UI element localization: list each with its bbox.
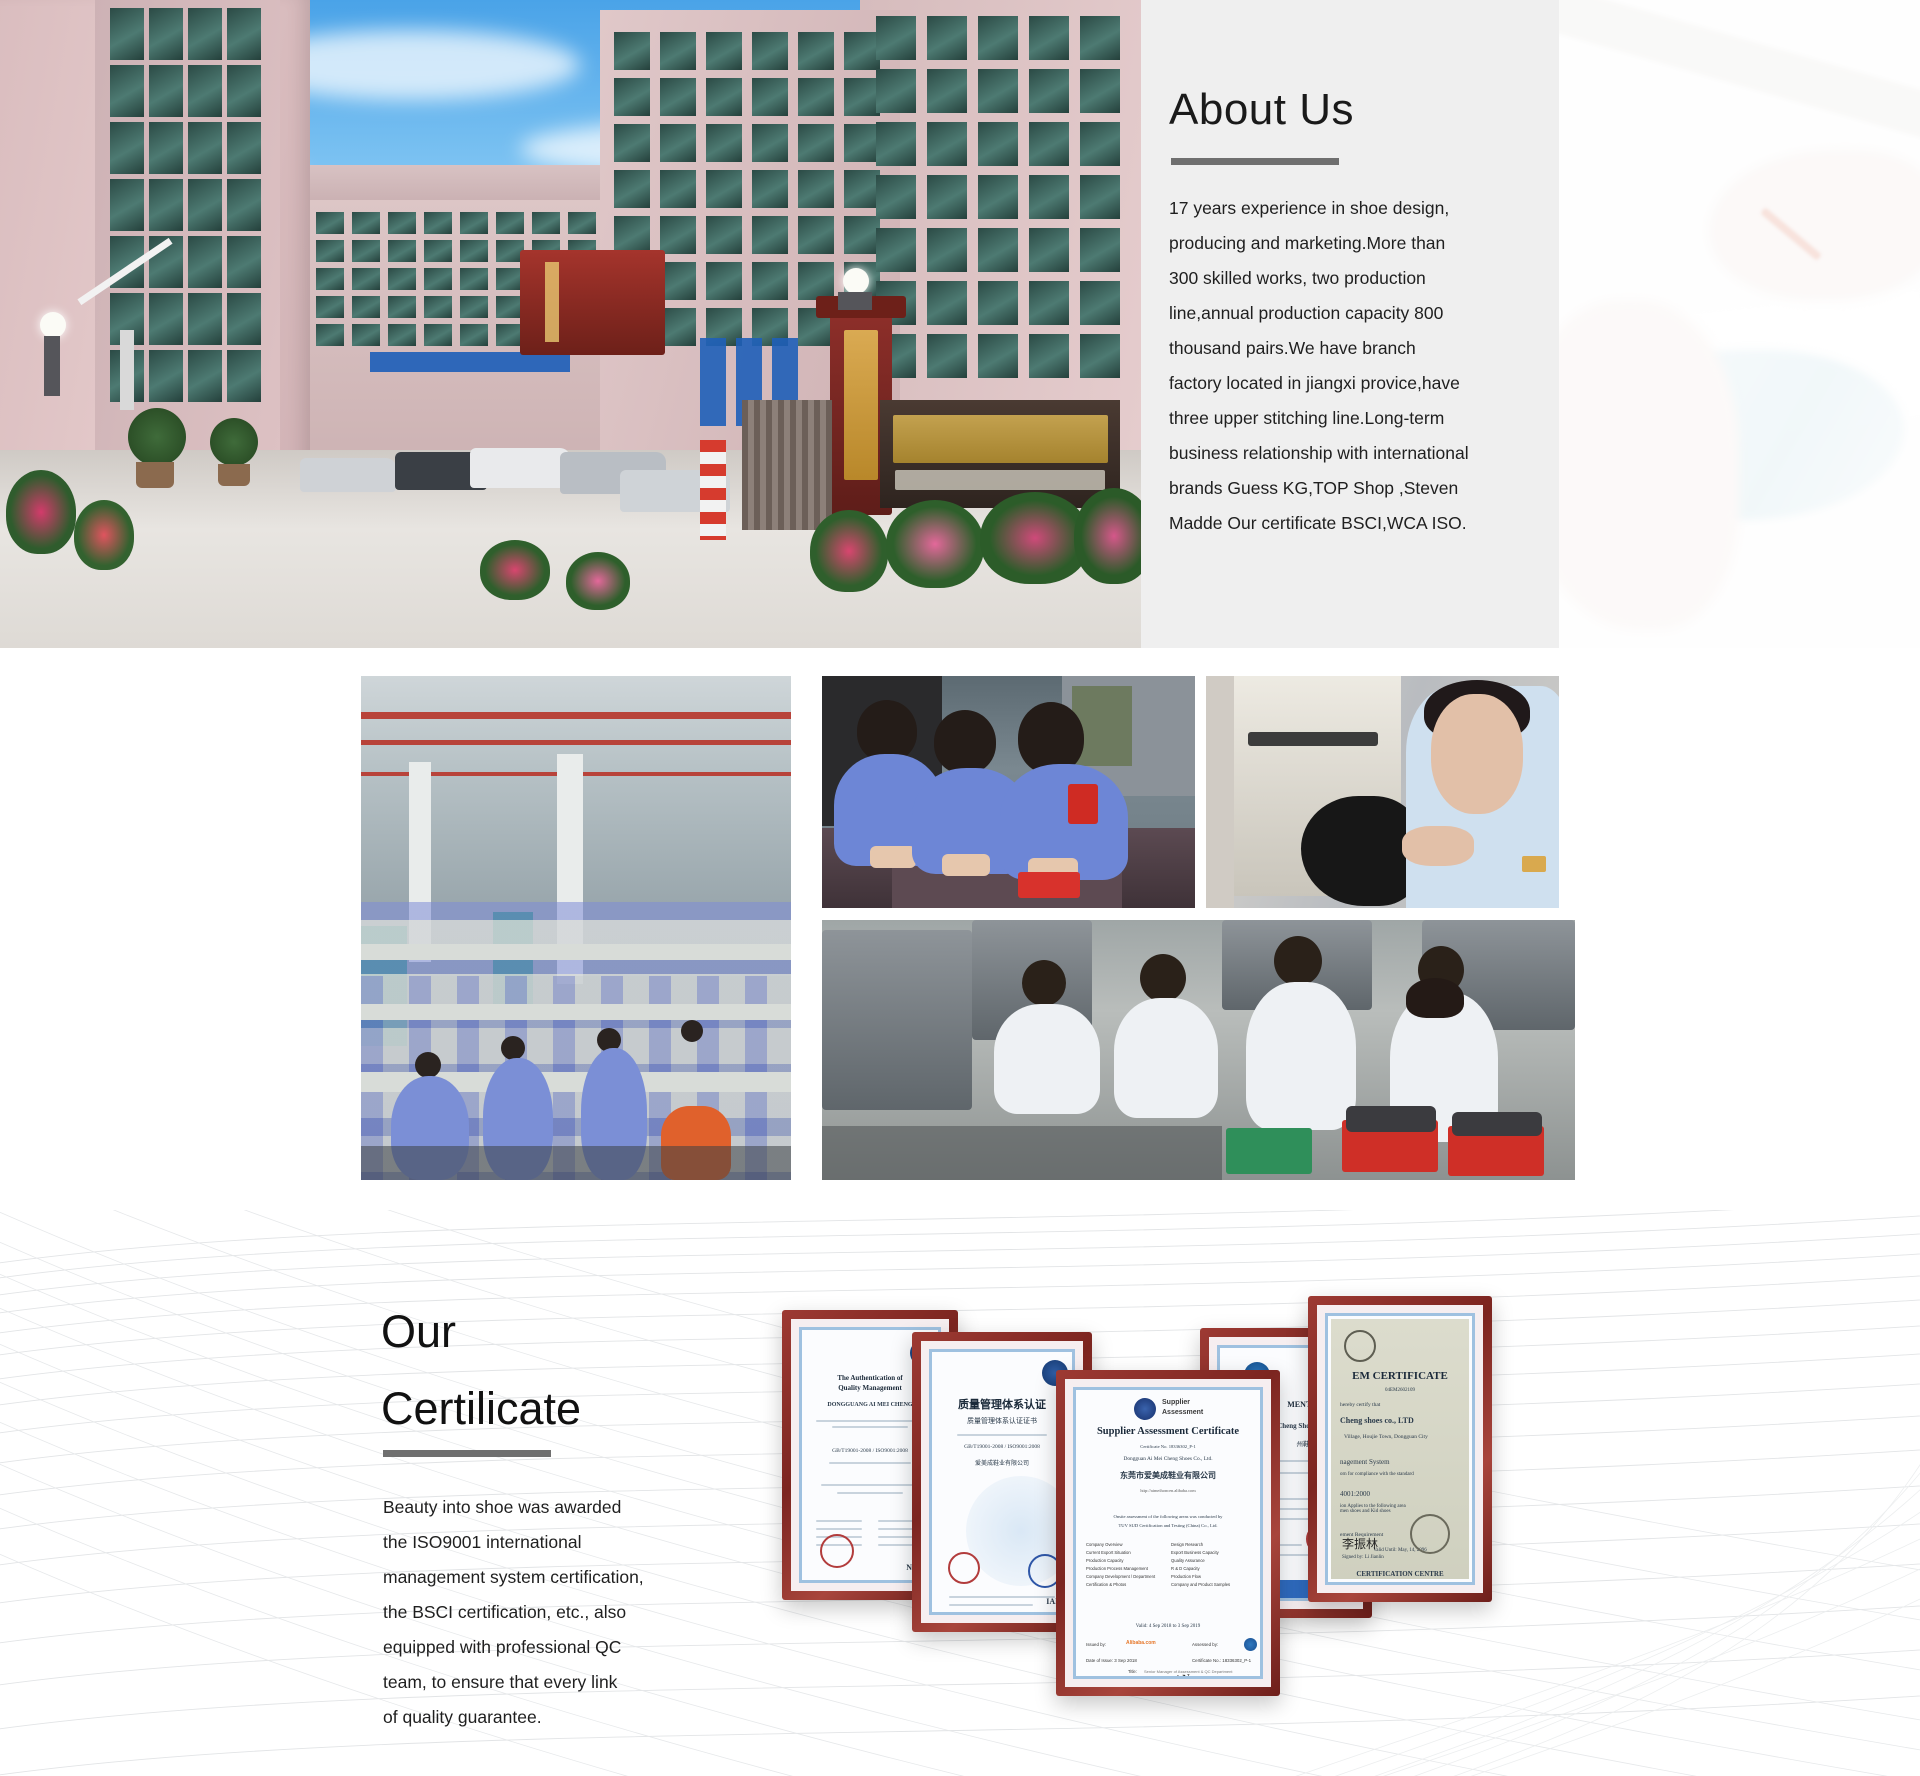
about-section: About Us 17 years experience in shoe des… [0,0,1920,648]
gallery-photo-workers-cutting [822,676,1195,908]
cert3-badge: SupplierAssessment [1162,1398,1203,1418]
factory-photo-gallery [0,648,1920,1210]
cert3-check-1: Design Research [1171,1542,1250,1547]
designer-sketching-photo [1559,0,1920,648]
cert3-check-4: Production Capacity [1086,1558,1165,1563]
cert3-assessed-by-label: Assessed by: [1192,1642,1218,1647]
cert3-check-3: Export Business Capacity [1171,1550,1250,1555]
certificate-frame-em-system[interactable]: EM CERTIFICATE 04EM2602109 hereby certif… [1308,1296,1492,1602]
cert3-check-5: Quality Assurance [1171,1558,1250,1563]
cert5-standard: 4001:2000 [1340,1490,1472,1498]
gallery-photo-production-floor [822,920,1575,1180]
cert3-issued-by-label: Issued by: [1086,1642,1106,1647]
company-nameplate-cn [893,415,1108,463]
certificate-title: Our Certilicate [381,1293,581,1447]
cert3-company-cn: 东莞市爱美成鞋业有限公司 [1076,1470,1260,1481]
cert3-check-6: Production Process Management [1086,1566,1165,1571]
red-banner-left [520,250,665,355]
cert5-compliance: orn for compliance with the standard [1340,1472,1472,1477]
cert5-signed-by: Signed by: Li Jianlin [1342,1555,1472,1560]
cert5-certify: hereby certify that [1340,1402,1472,1408]
cert3-check-11: Company and Product Samples [1171,1582,1250,1587]
cert3-cert-no: Certificate No. 18336302_P-1 [1076,1444,1260,1449]
cert5-scope: ion Applies to the following area men sh… [1340,1504,1472,1514]
cert3-check-2: Current Export Situation [1086,1550,1165,1555]
company-nameplate-en [895,470,1105,490]
certificate-title-underline [383,1450,551,1457]
cert3-cert-no-footer: Certificate No.: 18336302_P-1 [1192,1658,1251,1663]
certificate-title-line1: Our [381,1306,456,1357]
cert5-footer: CERTIFICATION CENTRE [1328,1570,1472,1578]
title-underline [1171,158,1339,165]
cert3-website: http://aimeihoncen.alibaba.com [1076,1488,1260,1493]
cert3-check-10: Certification & Photos [1086,1582,1165,1587]
cert2-company: 爱美成鞋业有限公司 [932,1458,1072,1467]
cert3-check-7: R & D Capacity [1171,1566,1250,1571]
cert5-title: EM CERTIFICATE [1328,1370,1472,1382]
cert3-valid: Valid: 4 Sep 2018 to 3 Sep 2019 [1076,1624,1260,1629]
cert2-title: 质量管理体系认证 [932,1396,1072,1412]
gallery-photo-sewing-operator [1206,676,1559,908]
about-text-panel: About Us 17 years experience in shoe des… [1141,0,1559,648]
cert2-subtitle: 质量管理体系认证证书 [932,1416,1072,1426]
cert3-title-label: Title: [1128,1669,1137,1674]
cert5-address: Village, Houjie Town, Dongguan City [1344,1434,1472,1440]
about-us-page: About Us 17 years experience in shoe des… [0,0,1920,1776]
cert5-cert-no: 04EM2602109 [1328,1388,1472,1393]
cert2-standard: GB/T19001-2008 / ISO9001:2008 [932,1444,1072,1450]
page-title: About Us [1169,88,1559,132]
cert3-check-9: Production Flow [1171,1574,1250,1579]
about-description: 17 years experience in shoe design, prod… [1169,191,1554,541]
certificate-section: Our Certilicate Beauty into shoe was awa… [0,1210,1920,1776]
certificate-frame-supplier-assessment[interactable]: SupplierAssessment Supplier Assessment C… [1056,1370,1280,1696]
cert3-check-0: Company Overview [1086,1542,1165,1547]
cert3-intro: Onsite assessment of the following areas… [1076,1512,1260,1530]
cert3-company-en: Dongguan Ai Mei Cheng Shoes Co., Ltd. [1076,1456,1260,1462]
cert5-system: nagement System [1340,1458,1472,1466]
factory-building-photo [0,0,1141,648]
certificate-description: Beauty into shoe was awarded the ISO9001… [383,1490,703,1735]
cert3-check-8: Company Development / Department [1086,1574,1165,1579]
cert5-company: Cheng shoes co., LTD [1340,1416,1472,1425]
cert3-issued-by: Alibaba.com [1126,1640,1156,1646]
gallery-photo-workshop-overview [361,676,791,1180]
cert3-date: Date of Issue: 3 Sep 2018 [1086,1658,1137,1663]
cert3-title-value: Senior Manager of Assessment & QC Depart… [1144,1669,1232,1674]
cert3-title: Supplier Assessment Certificate [1076,1426,1260,1437]
certificate-title-line2: Certilicate [381,1383,581,1434]
